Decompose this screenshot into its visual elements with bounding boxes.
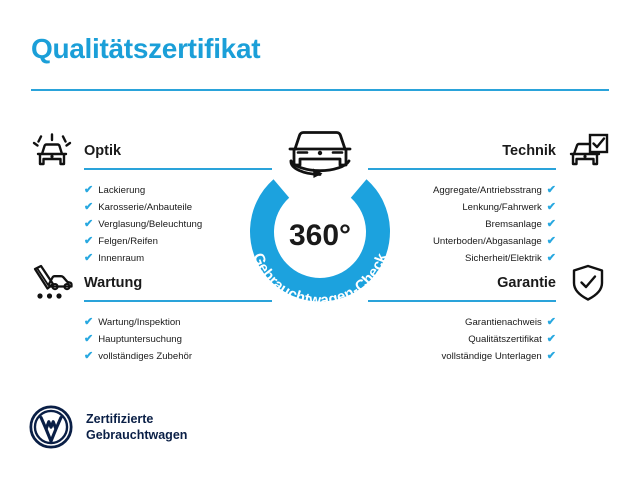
list-item-label: Aggregate/Antriebsstrang xyxy=(433,182,542,199)
list-item-label: Wartung/Inspektion xyxy=(98,314,180,331)
list-item-label: Felgen/Reifen xyxy=(98,233,158,250)
list-item: ✔Felgen/Reifen xyxy=(26,233,244,250)
pen-car-service-icon xyxy=(26,262,78,304)
checklist-optik: ✔Lackierung ✔Karosserie/Anbauteile ✔Verg… xyxy=(26,182,244,267)
list-item-label: Garantienachweis xyxy=(465,314,542,331)
check-icon: ✔ xyxy=(547,351,556,362)
certificate-page: Qualitätszertifikat xyxy=(0,0,640,480)
check-icon: ✔ xyxy=(84,334,93,345)
list-item: ✔Wartung/Inspektion xyxy=(26,314,244,331)
footer-brand: Zertifizierte Gebrauchtwagen xyxy=(29,405,187,449)
list-item: ✔vollständige Unterlagen xyxy=(396,348,614,365)
section-wartung: Wartung ✔Wartung/Inspektion ✔Hauptunters… xyxy=(26,262,244,365)
list-item-label: vollständiges Zubehör xyxy=(98,348,192,365)
check-icon: ✔ xyxy=(547,317,556,328)
list-item-label: Bremsanlage xyxy=(485,216,542,233)
vw-logo-icon xyxy=(29,405,73,449)
badge-graphic: Gebrauchtwagen-Check xyxy=(232,117,408,313)
section-header-technik: Technik xyxy=(396,130,614,176)
title-divider xyxy=(31,89,609,91)
badge-number: 360° xyxy=(232,219,408,253)
list-item: ✔Verglasung/Beleuchtung xyxy=(26,216,244,233)
checklist-technik: ✔Aggregate/Antriebsstrang ✔Lenkung/Fahrw… xyxy=(396,182,614,267)
check-icon: ✔ xyxy=(547,185,556,196)
list-item: ✔Hauptuntersuchung xyxy=(26,331,244,348)
check-icon: ✔ xyxy=(84,317,93,328)
checklist-wartung: ✔Wartung/Inspektion ✔Hauptuntersuchung ✔… xyxy=(26,314,244,365)
list-item: ✔Unterboden/Abgasanlage xyxy=(396,233,614,250)
check-icon: ✔ xyxy=(84,185,93,196)
check-icon: ✔ xyxy=(84,236,93,247)
checklist-garantie: ✔Garantienachweis ✔Qualitätszertifikat ✔… xyxy=(396,314,614,365)
check-icon: ✔ xyxy=(547,202,556,213)
check-icon: ✔ xyxy=(547,334,556,345)
list-item-label: Unterboden/Abgasanlage xyxy=(433,233,542,250)
section-title-technik: Technik xyxy=(502,142,556,160)
footer-brand-text: Zertifizierte Gebrauchtwagen xyxy=(86,411,187,443)
section-title-wartung: Wartung xyxy=(84,274,142,292)
list-item: ✔Karosserie/Anbauteile xyxy=(26,199,244,216)
list-item-label: Hauptuntersuchung xyxy=(98,331,182,348)
page-title: Qualitätszertifikat xyxy=(31,32,260,66)
section-title-optik: Optik xyxy=(84,142,121,160)
car-checkbox-icon xyxy=(562,130,614,172)
list-item-label: Verglasung/Beleuchtung xyxy=(98,216,202,233)
footer-line-1: Zertifizierte xyxy=(86,411,187,427)
list-item: ✔vollständiges Zubehör xyxy=(26,348,244,365)
check-icon: ✔ xyxy=(84,202,93,213)
list-item: ✔Bremsanlage xyxy=(396,216,614,233)
section-garantie: Garantie ✔Garantienachweis ✔Qualitätszer… xyxy=(396,262,614,365)
section-header-optik: Optik xyxy=(26,130,244,176)
car-rotate-icon xyxy=(290,133,350,179)
list-item: ✔Aggregate/Antriebsstrang xyxy=(396,182,614,199)
360-check-badge: Gebrauchtwagen-Check 360° xyxy=(232,117,408,313)
section-optik: Optik ✔Lackierung ✔Karosserie/Anbauteile… xyxy=(26,130,244,267)
check-icon: ✔ xyxy=(84,351,93,362)
list-item-label: vollständige Unterlagen xyxy=(442,348,542,365)
footer-line-2: Gebrauchtwagen xyxy=(86,427,187,443)
section-header-wartung: Wartung xyxy=(26,262,244,308)
list-item-label: Qualitätszertifikat xyxy=(468,331,542,348)
check-icon: ✔ xyxy=(84,219,93,230)
list-item-label: Karosserie/Anbauteile xyxy=(98,199,192,216)
list-item: ✔Qualitätszertifikat xyxy=(396,331,614,348)
section-title-garantie: Garantie xyxy=(497,274,556,292)
list-item-label: Lackierung xyxy=(98,182,145,199)
check-icon: ✔ xyxy=(547,236,556,247)
list-item-label: Lenkung/Fahrwerk xyxy=(462,199,541,216)
list-item: ✔Lenkung/Fahrwerk xyxy=(396,199,614,216)
section-header-garantie: Garantie xyxy=(396,262,614,308)
check-icon: ✔ xyxy=(547,219,556,230)
section-technik: Technik ✔Aggregate/Antriebsstrang ✔Lenku… xyxy=(396,130,614,267)
car-shine-icon xyxy=(26,130,78,172)
list-item: ✔Lackierung xyxy=(26,182,244,199)
list-item: ✔Garantienachweis xyxy=(396,314,614,331)
shield-check-icon xyxy=(562,262,614,304)
